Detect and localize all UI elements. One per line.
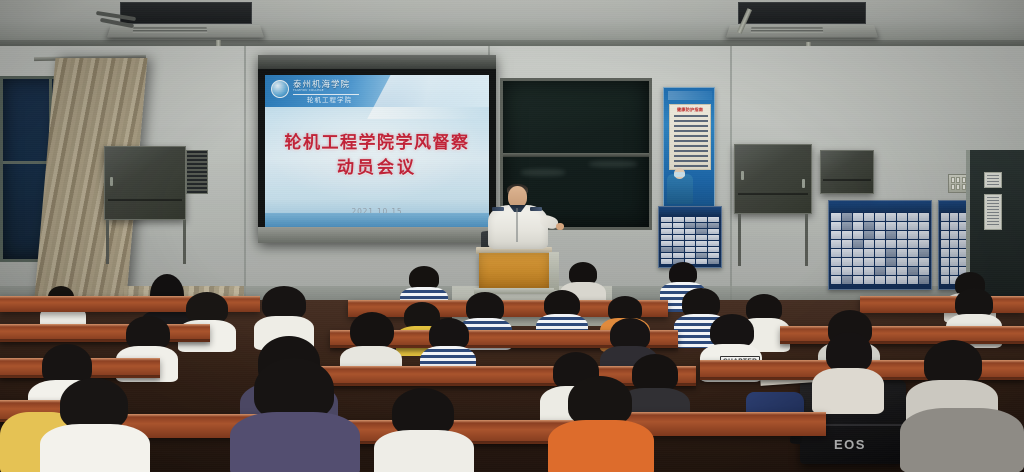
board-cell xyxy=(950,213,958,221)
board-cell xyxy=(864,231,874,239)
slide-title-line2: 动员会议 xyxy=(265,160,489,177)
board-cell xyxy=(886,222,896,230)
student-row4-a-body xyxy=(40,424,150,472)
board-cell xyxy=(919,276,929,284)
lecture-hall-photo: 泰州机海学院 TAIZHOU COLLEGE 轮机工程学院 轮机工程学院学风督察… xyxy=(0,0,1024,472)
board-cell xyxy=(864,249,874,257)
board-cell xyxy=(897,231,907,239)
slide-footer-band xyxy=(265,213,489,227)
board-cell xyxy=(842,213,852,221)
board-cell xyxy=(875,240,885,248)
board-cell xyxy=(908,249,918,257)
board-cell xyxy=(673,241,684,246)
board-cell xyxy=(831,231,841,239)
projection-screen: 泰州机海学院 TAIZHOU COLLEGE 轮机工程学院 轮机工程学院学风督察… xyxy=(258,55,496,243)
student-row4-c-hair xyxy=(392,388,454,436)
board-cell xyxy=(708,217,719,222)
board-cell xyxy=(875,222,885,230)
board-cell xyxy=(897,240,907,248)
board-cell xyxy=(950,240,958,248)
student-row2-b-hair xyxy=(350,312,394,350)
student-row3-e xyxy=(812,332,884,410)
board-cell xyxy=(886,267,896,275)
presenter-shirt-placket xyxy=(516,208,518,242)
board-cell xyxy=(950,249,958,257)
board-cell xyxy=(696,235,707,240)
camera-bag-model: EOS xyxy=(834,437,866,452)
institution-logo-icon xyxy=(271,80,289,98)
wall-cabinet-center xyxy=(734,144,812,214)
student-row4-a-hair xyxy=(60,378,128,430)
poster-figure-illustration xyxy=(667,174,693,204)
student-row4-f xyxy=(900,408,1024,472)
board-cell xyxy=(941,249,949,257)
board-cell xyxy=(875,276,885,284)
cabinet-left-seam xyxy=(108,199,182,201)
board-cell xyxy=(661,229,672,234)
schedule-board-center-header xyxy=(659,207,721,215)
board-cell xyxy=(661,223,672,228)
board-cell xyxy=(908,213,918,221)
poster-text-lines xyxy=(674,115,708,167)
board-cell xyxy=(864,240,874,248)
student-row4-d-body xyxy=(548,420,654,472)
board-cell xyxy=(941,258,949,266)
board-cell xyxy=(842,249,852,257)
board-cell xyxy=(661,253,672,258)
board-cell xyxy=(831,222,841,230)
slide-logo-institution-en: TAIZHOU COLLEGE xyxy=(293,88,324,92)
projection-screen-weight-bar xyxy=(258,227,496,243)
board-cell xyxy=(950,258,958,266)
board-cell xyxy=(897,222,907,230)
board-cell xyxy=(941,213,949,221)
ac-body-left xyxy=(120,2,252,24)
board-cell xyxy=(661,235,672,240)
ac-body-right xyxy=(738,2,866,24)
board-cell xyxy=(685,235,696,240)
board-cell xyxy=(853,249,863,257)
cabinet-left-latch xyxy=(110,177,113,186)
wall-groove-3 xyxy=(730,46,732,301)
board-cell xyxy=(853,258,863,266)
board-cell xyxy=(897,258,907,266)
board-cell xyxy=(919,231,929,239)
student-row1-b-hair xyxy=(262,286,306,320)
student-row4-d xyxy=(548,376,654,472)
board-cell xyxy=(708,259,719,264)
board-cell xyxy=(831,249,841,257)
board-cell xyxy=(919,258,929,266)
board-cell xyxy=(853,222,863,230)
blackboard-smudge-a xyxy=(521,169,565,176)
cabinet-left-legs xyxy=(106,220,186,264)
light-switch-5[interactable] xyxy=(951,184,955,190)
board-cell xyxy=(708,235,719,240)
board-cell xyxy=(950,222,958,230)
door-notice-1-lines xyxy=(987,175,999,185)
board-cell xyxy=(831,240,841,248)
student-row4-c xyxy=(374,388,474,472)
cabinet-center-latch-2 xyxy=(802,179,805,188)
board-cell xyxy=(908,276,918,284)
board-cell xyxy=(908,240,918,248)
board-cell xyxy=(919,222,929,230)
wall-cabinet-left xyxy=(104,146,186,220)
student-row3-e-hair xyxy=(826,332,872,372)
schedule-board-far-right-header xyxy=(939,201,969,212)
door-notice-1 xyxy=(984,172,1002,188)
student-row4-d-hair xyxy=(568,376,632,426)
board-cell xyxy=(908,231,918,239)
poster-content-card: 健康防护指南 xyxy=(669,104,711,170)
presenter-hand xyxy=(556,223,564,230)
board-cell xyxy=(908,258,918,266)
presenter-epaulette-right xyxy=(530,207,542,211)
board-cell xyxy=(673,247,684,252)
cabinet-center-latch xyxy=(741,171,744,180)
blackboard-smudge-b xyxy=(589,161,637,167)
ac-louvre-right xyxy=(750,27,823,33)
board-cell xyxy=(696,217,707,222)
board-cell xyxy=(853,276,863,284)
board-cell xyxy=(685,253,696,258)
board-cell xyxy=(853,231,863,239)
cabinet-right-seam xyxy=(823,179,871,181)
board-cell xyxy=(886,240,896,248)
student-row4-b-body xyxy=(230,412,360,472)
board-cell xyxy=(853,267,863,275)
board-cell xyxy=(708,223,719,228)
student-row4-b-hair xyxy=(254,358,334,420)
board-cell xyxy=(842,258,852,266)
student-row3-e-body xyxy=(812,368,884,414)
board-cell xyxy=(853,213,863,221)
student-row4-f-body xyxy=(900,408,1024,472)
board-cell xyxy=(696,223,707,228)
board-cell xyxy=(842,222,852,230)
slide-logo-department-cn: 轮机工程学院 xyxy=(307,94,352,104)
presenter-epaulette-left xyxy=(492,207,504,211)
board-cell xyxy=(950,231,958,239)
ceiling-ac-unit-left xyxy=(120,2,252,40)
board-cell xyxy=(661,217,672,222)
door-notice-2-lines xyxy=(987,197,999,227)
board-cell xyxy=(673,217,684,222)
board-cell xyxy=(886,249,896,257)
board-cell xyxy=(875,258,885,266)
board-cell xyxy=(708,247,719,252)
board-cell xyxy=(842,231,852,239)
blackboard-rail xyxy=(503,153,649,157)
board-cell xyxy=(919,267,929,275)
board-cell xyxy=(696,247,707,252)
board-cell xyxy=(875,213,885,221)
student-row4-a xyxy=(40,378,150,472)
poster-header-band xyxy=(668,91,712,100)
presentation-slide: 泰州机海学院 TAIZHOU COLLEGE 轮机工程学院 轮机工程学院学风督察… xyxy=(265,75,489,227)
board-cell xyxy=(941,231,949,239)
projection-screen-roller xyxy=(258,55,496,69)
board-cell xyxy=(831,258,841,266)
board-cell xyxy=(831,267,841,275)
lectern-side-panel xyxy=(549,252,559,290)
cabinet-left-grille xyxy=(186,150,208,194)
light-switch-2[interactable] xyxy=(956,177,960,183)
schedule-board-right xyxy=(828,200,932,290)
board-cell xyxy=(696,241,707,246)
desk-row-2-left xyxy=(0,324,210,342)
board-cell xyxy=(685,247,696,252)
board-cell xyxy=(875,267,885,275)
board-cell xyxy=(708,229,719,234)
board-cell xyxy=(831,213,841,221)
student-row4-c-body xyxy=(374,430,474,472)
board-cell xyxy=(897,249,907,257)
board-cell xyxy=(842,240,852,248)
door-notice-2 xyxy=(984,194,1002,230)
poster-heading: 健康防护指南 xyxy=(670,107,710,113)
board-cell xyxy=(875,231,885,239)
board-cell xyxy=(886,276,896,284)
board-cell xyxy=(661,247,672,252)
board-cell xyxy=(864,276,874,284)
board-cell xyxy=(696,229,707,234)
student-row4-b xyxy=(230,358,360,472)
board-cell xyxy=(673,229,684,234)
board-cell xyxy=(708,241,719,246)
board-cell xyxy=(831,276,841,284)
board-cell xyxy=(908,222,918,230)
board-cell xyxy=(864,267,874,275)
board-cell xyxy=(673,235,684,240)
board-cell xyxy=(886,258,896,266)
board-cell xyxy=(864,258,874,266)
schedule-board-center-grid xyxy=(661,217,719,264)
board-cell xyxy=(941,240,949,248)
board-cell xyxy=(919,249,929,257)
light-switch-1[interactable] xyxy=(951,177,955,183)
board-cell xyxy=(875,249,885,257)
board-cell xyxy=(685,241,696,246)
wall-groove-1 xyxy=(244,46,246,301)
student-row2-a-hair xyxy=(126,316,170,350)
slide-title-line1: 轮机工程学院学风督察 xyxy=(265,135,489,152)
board-cell xyxy=(853,240,863,248)
board-cell xyxy=(842,276,852,284)
board-cell xyxy=(685,223,696,228)
desk-row-2-left-highlight xyxy=(0,324,210,327)
board-cell xyxy=(864,222,874,230)
board-cell xyxy=(696,253,707,258)
student-row2-e-hair xyxy=(710,314,754,348)
schedule-board-right-header xyxy=(829,201,931,212)
wall-cabinet-right xyxy=(820,150,874,194)
lectern xyxy=(479,253,549,289)
board-cell xyxy=(919,213,929,221)
safety-poster: 健康防护指南 xyxy=(663,87,715,209)
board-cell xyxy=(897,276,907,284)
cabinet-center-seam xyxy=(738,193,808,195)
light-switch-6[interactable] xyxy=(956,184,960,190)
board-cell xyxy=(919,240,929,248)
board-cell xyxy=(708,253,719,258)
board-cell xyxy=(941,222,949,230)
cabinet-center-legs xyxy=(738,214,808,266)
presenter xyxy=(486,186,576,256)
schedule-board-right-grid xyxy=(831,213,929,284)
board-cell xyxy=(685,217,696,222)
board-cell xyxy=(886,231,896,239)
board-cell xyxy=(897,213,907,221)
schedule-board-center xyxy=(658,206,722,268)
slide-header-swoosh xyxy=(368,75,489,119)
board-cell xyxy=(673,253,684,258)
board-cell xyxy=(908,267,918,275)
ceiling-ac-unit-right xyxy=(738,2,866,40)
board-cell xyxy=(685,229,696,234)
poster-figure-mask-icon xyxy=(674,172,685,177)
board-cell xyxy=(661,241,672,246)
board-cell xyxy=(897,267,907,275)
board-cell xyxy=(673,223,684,228)
desk-row-2-right-highlight xyxy=(780,326,1024,329)
board-cell xyxy=(864,213,874,221)
board-cell xyxy=(886,213,896,221)
board-cell xyxy=(842,267,852,275)
ac-louvre-left xyxy=(133,27,208,33)
